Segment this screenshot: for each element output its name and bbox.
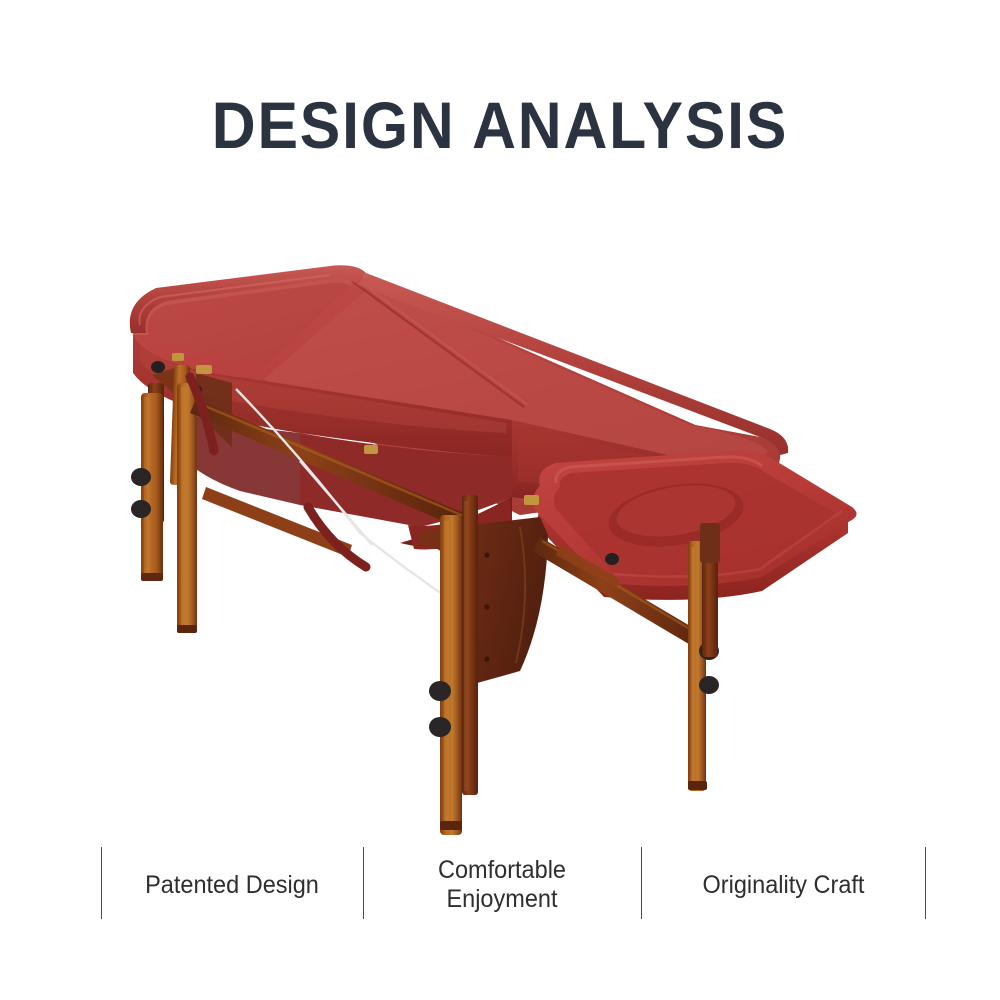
- height-adjust-knob[interactable]: [131, 500, 151, 518]
- leg-front-centre: [429, 515, 462, 835]
- leg-rear-right: [700, 523, 720, 657]
- page-title: DESIGN ANALYSIS: [40, 92, 960, 158]
- height-adjust-knob[interactable]: [429, 717, 451, 737]
- feature-item-comfortable-enjoyment[interactable]: Comfortable Enjoyment: [372, 840, 631, 930]
- leg-front-left: [177, 383, 197, 633]
- height-adjust-knob[interactable]: [429, 681, 451, 701]
- height-adjust-knob[interactable]: [699, 676, 719, 694]
- feature-label-line-2: Enjoyment: [446, 885, 557, 913]
- feature-strip: Patented Design Comfortable Enjoyment Or…: [0, 840, 1000, 930]
- height-adjust-knob[interactable]: [131, 468, 151, 486]
- feature-item-patented-design[interactable]: Patented Design: [110, 840, 354, 930]
- feature-divider-2: [641, 847, 642, 919]
- leg-rear-left: [131, 383, 164, 581]
- feature-label: Comfortable Enjoyment: [438, 856, 566, 914]
- feature-divider-1: [363, 847, 364, 919]
- feature-label: Originality Craft: [703, 871, 865, 900]
- design-analysis-page: DESIGN ANALYSIS: [0, 0, 1000, 1000]
- massage-table-illustration: [0, 215, 1000, 835]
- feature-label-line-1: Comfortable: [438, 856, 566, 884]
- feature-item-originality-craft[interactable]: Originality Craft: [650, 840, 916, 930]
- reinforcement-panel: [420, 517, 548, 685]
- product-image: [0, 215, 1000, 835]
- feature-divider-0: [101, 847, 102, 919]
- leg-rear-centre: [462, 495, 478, 795]
- feature-label: Patented Design: [145, 871, 319, 900]
- feature-divider-3: [925, 847, 926, 919]
